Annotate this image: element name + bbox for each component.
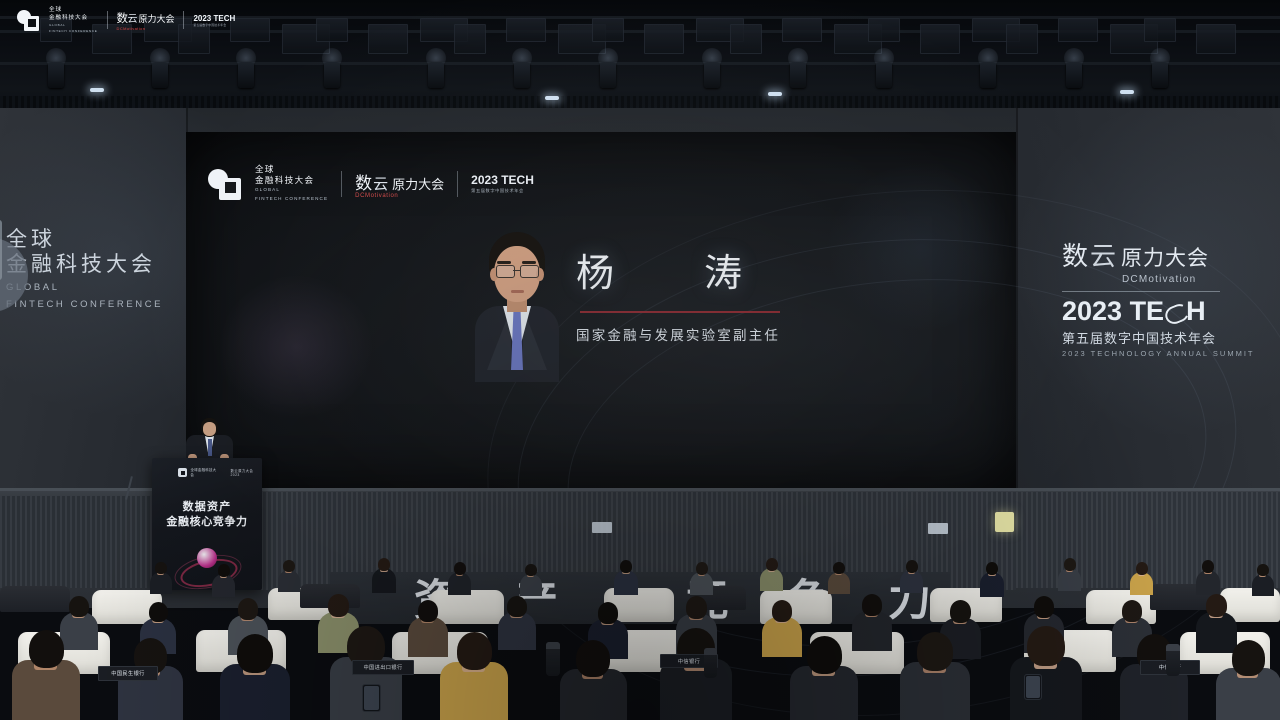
stage-edge-light: [995, 512, 1014, 532]
watermark-year-block: 2023 TECH 第五届数字中国技术年会: [193, 14, 235, 27]
speaker-name-rule: [580, 311, 780, 313]
truss-box: [920, 24, 960, 54]
speaker-name-block: 杨 涛 国家金融与发展实验室副主任: [576, 242, 956, 344]
podium-mini-cn: 全球金融科技大会: [191, 468, 219, 477]
watermark-divider-2: [183, 11, 184, 29]
screen-dcmotivation-wordmark: 数 云 原力大会 DCMotivation: [355, 169, 444, 199]
audience-head: [238, 598, 258, 620]
screen-en-line2: FINTECH CONFERENCE: [255, 196, 328, 203]
audience-head: [1206, 594, 1227, 617]
audience-head: [833, 562, 844, 574]
audience-member: [150, 562, 172, 592]
stage-light-icon: [600, 62, 616, 88]
audience-head: [1122, 600, 1142, 622]
audience-head: [986, 562, 999, 575]
truss-box: [1144, 18, 1176, 42]
stage-light-icon: [876, 62, 892, 88]
truss-box: [1006, 24, 1038, 54]
audience-member: [614, 560, 638, 593]
phone-screen: [1026, 676, 1040, 698]
audience-head: [283, 560, 294, 572]
audience-body: [980, 572, 1004, 596]
audience-member: [828, 562, 850, 592]
bottle-cap: [1166, 644, 1180, 651]
truss-box: [506, 18, 546, 42]
audience-member: [1216, 640, 1280, 720]
led-screen: 全球 金融科技大会 GLOBAL FINTECH CONFERENCE 数 云 …: [186, 132, 1016, 488]
screen-cn-line2: 金融科技大会: [255, 175, 328, 186]
speaker-name: 杨 涛: [576, 242, 956, 297]
beam-light: [1120, 90, 1134, 94]
water-bottle: [546, 642, 560, 676]
fintech-conference-logo-icon: [208, 167, 242, 201]
audience-body: [372, 568, 396, 592]
truss-box: [1058, 18, 1098, 42]
audience-head: [418, 600, 438, 622]
audience-body: [614, 570, 638, 594]
audience-head: [454, 562, 466, 575]
audience-member: [220, 634, 290, 720]
truss-box: [592, 18, 624, 42]
audience-head: [69, 596, 89, 617]
screen-logo-divider-1: [341, 171, 342, 197]
audience-member: [440, 632, 508, 720]
watermark-cn-line2: 金融科技大会: [49, 15, 98, 23]
audience-head: [766, 558, 778, 571]
audience-head: [149, 602, 168, 622]
screen-en-line1: GLOBAL: [255, 187, 328, 194]
water-bottle: [704, 648, 717, 678]
screen-year-sub: 第五届数字中国技术年会: [471, 188, 534, 194]
screen-brand-sub: DCMotivation: [355, 193, 444, 199]
podium-mini-cn2: 数云原力大会 2023: [231, 468, 262, 477]
truss-box: [316, 18, 348, 42]
bottle-cap: [704, 648, 717, 655]
podium-title-line2: 金融核心竞争力: [152, 515, 262, 530]
watermark-year-sub: 第五届数字中国技术年会: [193, 23, 235, 27]
screen-logo-bar: 全球 金融科技大会 GLOBAL FINTECH CONFERENCE 数 云 …: [208, 164, 534, 203]
audience-member: [1196, 560, 1220, 593]
fintech-conference-logo-icon: [17, 9, 40, 32]
fintech-conference-logo-icon: [178, 468, 187, 477]
audience-member: [448, 562, 471, 594]
watermark-divider-1: [107, 11, 108, 29]
stage-light-icon: [428, 62, 444, 88]
audience-head: [155, 562, 166, 574]
audience-head: [862, 594, 882, 616]
audience-member: [760, 558, 783, 590]
screen-logo-divider-2: [457, 171, 458, 197]
audience-head: [1257, 564, 1268, 576]
broadcast-watermark: 全球 金融科技大会 GLOBAL FINTECH CONFERENCE 数 云 …: [10, 4, 242, 36]
audience-head: [1232, 640, 1265, 676]
stage-light-icon: [980, 62, 996, 88]
audience-member: [980, 562, 1004, 595]
stage-light-icon: [790, 62, 806, 88]
fintech-conference-logo-icon: [0, 220, 34, 316]
audience-head: [686, 596, 707, 619]
watermark-cn-line1: 全球: [49, 7, 98, 15]
audience-head: [576, 640, 610, 677]
audience-head: [218, 564, 230, 577]
table-name-card-label: 中国民生银行: [111, 670, 145, 677]
stage-light-icon: [1152, 62, 1168, 88]
table-name-card: 中国进出口银行: [352, 660, 414, 675]
audience-head: [378, 558, 391, 571]
audience-member: [790, 636, 858, 720]
beam-light: [768, 92, 782, 96]
audience-head: [507, 596, 527, 617]
audience-member: [520, 564, 542, 594]
audience-member: [560, 640, 627, 720]
smartphone: [1024, 674, 1042, 700]
audience-head: [807, 636, 842, 674]
watermark-dcmotivation-wordmark: 数 云 原力大会 DCMotivation: [117, 10, 175, 31]
stage-light-icon: [238, 62, 254, 88]
speaker-title: 国家金融与发展实验室副主任: [576, 324, 956, 344]
screen-year-block: 2023 TECH 第五届数字中国技术年会: [471, 173, 534, 194]
table-name-card-label: 中国进出口银行: [363, 664, 402, 671]
audience-member: [900, 560, 923, 592]
podium-title-line1: 数据资产: [152, 500, 262, 515]
screen-fintech-wordmark: 全球 金融科技大会 GLOBAL FINTECH CONFERENCE: [255, 164, 328, 203]
screen-brand-a: 数: [355, 169, 371, 194]
phone-screen: [364, 686, 379, 710]
audience-head: [772, 600, 792, 622]
screen-brand-c: 原力大会: [392, 174, 444, 193]
podium-logo-row: 全球金融科技大会 数云原力大会 2023: [178, 468, 262, 477]
audience-head: [917, 632, 953, 671]
audience-head: [1034, 596, 1054, 618]
smartphone: [362, 684, 381, 712]
truss-box: [454, 24, 486, 54]
audience-head: [1136, 562, 1148, 575]
audience-head: [598, 602, 618, 624]
podium-title: 数据资产 金融核心竞争力: [152, 500, 262, 530]
stage-light-icon: [1066, 62, 1082, 88]
truss-box: [644, 24, 684, 54]
audience-member: [690, 562, 713, 594]
beam-light: [545, 96, 559, 100]
truss-box: [868, 18, 900, 42]
audience-head: [1202, 560, 1215, 573]
audience-head: [1027, 626, 1064, 666]
screen-year: 2023 TECH: [471, 173, 534, 187]
audience-member: [278, 560, 300, 590]
truss-box: [782, 18, 822, 42]
audience-member: [12, 630, 80, 720]
wall-signage-left: 全球 金融科技大会 GLOBAL FINTECH CONFERENCE: [6, 228, 181, 312]
screen-nebula-left: [216, 272, 376, 422]
audience-head: [620, 560, 633, 573]
stage-light-icon: [48, 62, 64, 88]
audience-member: [212, 564, 235, 596]
truss-box: [1196, 24, 1236, 54]
screen-brand-b: 云: [373, 173, 388, 194]
audience-member: [372, 558, 396, 591]
audience-head: [29, 630, 64, 668]
table-name-card: 中国民生银行: [98, 666, 158, 681]
watermark-en-line2: FINTECH CONFERENCE: [49, 29, 98, 34]
audience-head: [237, 634, 273, 673]
truss-box: [730, 24, 762, 54]
screen-cn-line1: 全球: [255, 164, 328, 175]
audience-member: [1252, 564, 1274, 594]
stage-light-icon: [514, 62, 530, 88]
audience-head: [950, 600, 971, 623]
watermark-en-line1: GLOBAL: [49, 23, 98, 28]
audience-head: [328, 594, 349, 617]
water-bottle: [1166, 644, 1180, 676]
watermark-brand-b: 云: [127, 10, 137, 25]
bottle-cap: [546, 642, 560, 649]
audience-member: [900, 632, 970, 720]
audience-body: [1196, 570, 1220, 594]
audience-head: [457, 632, 492, 670]
watermark-year: 2023 TECH: [193, 14, 235, 23]
table-name-card-label: 中信银行: [678, 658, 700, 665]
audience-member: [660, 628, 732, 720]
audience-member: [1010, 626, 1082, 720]
audience-head: [1064, 558, 1076, 571]
audience-member: [1058, 558, 1081, 590]
audience-head: [906, 560, 918, 573]
speaker-portrait: [473, 232, 561, 382]
stage-light-icon: [152, 62, 168, 88]
stage-light-icon: [324, 62, 340, 88]
audience-head: [696, 562, 708, 575]
watermark-brand-c: 原力大会: [138, 12, 174, 25]
audience-head: [525, 564, 536, 576]
stage-light-icon: [704, 62, 720, 88]
watermark-brand-a: 数: [117, 10, 128, 26]
watermark-brand-sub: DCMotivation: [117, 26, 175, 31]
truss-box: [368, 24, 408, 54]
watermark-fintech-wordmark: 全球 金融科技大会 GLOBAL FINTECH CONFERENCE: [49, 7, 98, 33]
audience-member: [1130, 562, 1153, 594]
conference-photo: 全球 金融科技大会 GLOBAL FINTECH CONFERENCE 数 云 …: [0, 0, 1280, 720]
audience-area: 中国民生银行中国进出口银行中信银行中信银行: [0, 556, 1280, 720]
